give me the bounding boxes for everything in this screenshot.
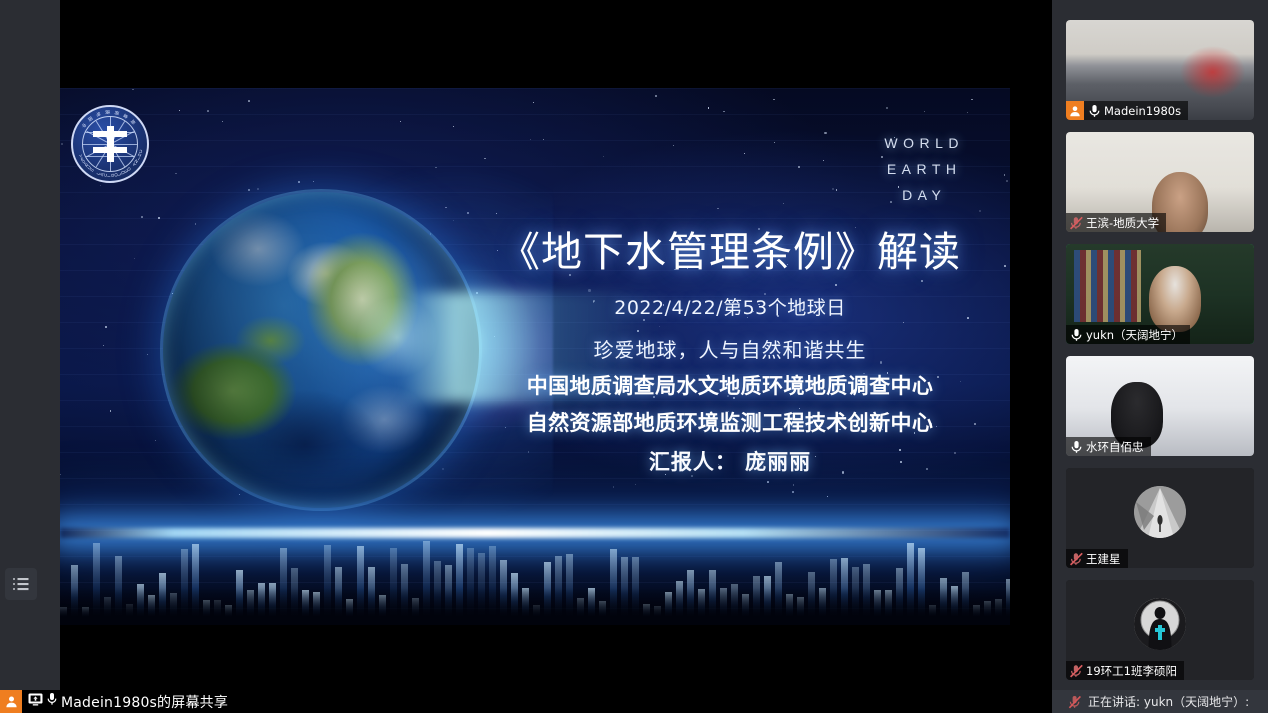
mountain-avatar bbox=[1134, 486, 1186, 538]
microphone-muted-icon bbox=[1064, 695, 1086, 709]
microphone-icon bbox=[46, 692, 58, 711]
participant-name: 19环工1班李硕阳 bbox=[1086, 663, 1177, 679]
participant-tile[interactable]: 19环工1班李硕阳 bbox=[1066, 580, 1254, 680]
microphone-icon bbox=[1066, 440, 1086, 454]
participant-nameplate: 水环自佰忠 bbox=[1066, 437, 1151, 456]
microphone-muted-icon bbox=[1066, 552, 1086, 566]
list-panel-icon bbox=[12, 577, 30, 591]
participant-tile[interactable]: 王滨-地质大学 bbox=[1066, 132, 1254, 232]
slide-slogan: 珍爱地球，人与自然和谐共生 bbox=[460, 334, 1000, 363]
presentation-slide[interactable]: 中国地质调查局CHINA GEOLOGICAL SURVEY WORLD EAR… bbox=[60, 88, 1010, 625]
screen-share-status-bar: Madein1980s的屏幕共享 bbox=[0, 690, 1052, 713]
slide-date-line: 2022/4/22/第53个地球日 bbox=[460, 293, 1000, 320]
participant-tile[interactable]: Madein1980s bbox=[1066, 20, 1254, 120]
microphone-muted-icon bbox=[1066, 664, 1086, 678]
wed-line-3: DAY bbox=[884, 182, 964, 208]
participant-name: 王建星 bbox=[1086, 551, 1121, 567]
person-icon bbox=[0, 690, 22, 713]
wed-line-1: WORLD bbox=[884, 130, 964, 156]
meeting-window: 中国地质调查局CHINA GEOLOGICAL SURVEY WORLD EAR… bbox=[0, 0, 1268, 713]
participant-tile[interactable]: 王建星 bbox=[1066, 468, 1254, 568]
shared-screen-region: 中国地质调查局CHINA GEOLOGICAL SURVEY WORLD EAR… bbox=[0, 0, 1052, 713]
participant-nameplate: 19环工1班李硕阳 bbox=[1066, 661, 1184, 680]
speaking-status-bar: 正在讲话: yukn（天阔地宁）: bbox=[1052, 690, 1268, 713]
microphone-icon bbox=[1066, 328, 1086, 342]
speaking-status-text: 正在讲话: yukn（天阔地宁）: bbox=[1086, 693, 1249, 710]
slide-org-line-2: 自然资源部地质环境监测工程技术创新中心 bbox=[460, 407, 1000, 437]
slide-speaker-line: 汇报人： 庞丽丽 bbox=[460, 446, 1000, 476]
screen-share-icon bbox=[28, 693, 43, 711]
participant-name: 水环自佰忠 bbox=[1086, 439, 1144, 455]
slide-bottom-fade bbox=[60, 588, 1010, 625]
world-earth-day-text: WORLD EARTH DAY bbox=[884, 130, 964, 208]
microphone-muted-icon bbox=[1066, 216, 1086, 230]
participant-tile-list: Madein1980s 王滨-地质大学 yukn（天阔地宁） 水环自佰忠 bbox=[1066, 20, 1256, 692]
participant-filmstrip[interactable]: Madein1980s 王滨-地质大学 yukn（天阔地宁） 水环自佰忠 bbox=[1052, 0, 1268, 713]
participant-tile[interactable]: yukn（天阔地宁） bbox=[1066, 244, 1254, 344]
panel-toggle-button[interactable] bbox=[5, 568, 37, 600]
person-icon bbox=[1066, 101, 1084, 120]
microphone-icon bbox=[1084, 104, 1104, 118]
slide-text-block: 《地下水管理条例》解读 2022/4/22/第53个地球日 珍爱地球，人与自然和… bbox=[460, 228, 1000, 476]
slide-title: 《地下水管理条例》解读 bbox=[460, 228, 1000, 276]
silhouette-avatar bbox=[1134, 598, 1186, 650]
participant-nameplate: 王建星 bbox=[1066, 549, 1128, 568]
participant-nameplate: Madein1980s bbox=[1066, 101, 1188, 120]
wed-line-2: EARTH bbox=[884, 156, 964, 182]
participant-name: Madein1980s bbox=[1104, 104, 1181, 118]
participant-name: yukn（天阔地宁） bbox=[1086, 327, 1183, 343]
participant-nameplate: yukn（天阔地宁） bbox=[1066, 325, 1190, 344]
participant-nameplate: 王滨-地质大学 bbox=[1066, 213, 1166, 232]
earth-globe bbox=[163, 192, 479, 508]
slide-org-line-1: 中国地质调查局水文地质环境地质调查中心 bbox=[460, 370, 1000, 400]
participant-tile[interactable]: 水环自佰忠 bbox=[1066, 356, 1254, 456]
participant-name: 王滨-地质大学 bbox=[1086, 215, 1159, 231]
screen-share-label: Madein1980s的屏幕共享 bbox=[58, 692, 228, 712]
